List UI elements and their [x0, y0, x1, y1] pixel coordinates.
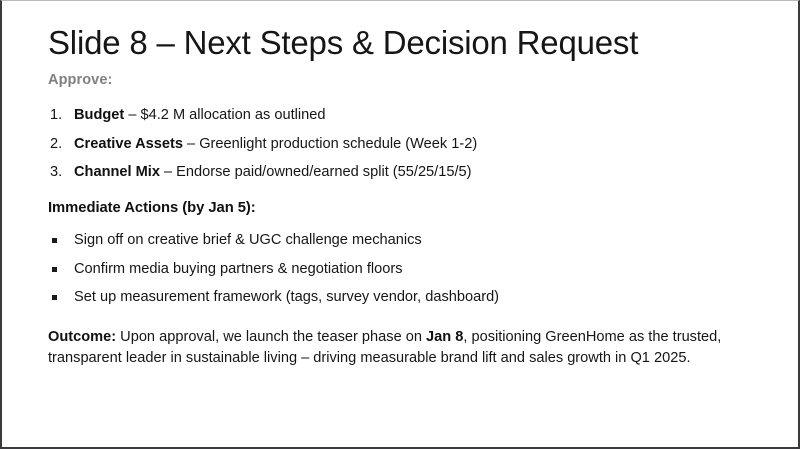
list-item: 1.Budget – $4.2 M allocation as outlined — [48, 106, 762, 125]
list-item: Sign off on creative brief & UGC challen… — [48, 231, 762, 250]
list-item-text: – $4.2 M allocation as outlined — [124, 107, 325, 123]
slide-content: Slide 8 – Next Steps & Decision Request … — [48, 23, 762, 384]
list-item-text: Sign off on creative brief & UGC challen… — [74, 232, 422, 248]
square-bullet-icon — [52, 267, 57, 272]
outcome-text-part1: Upon approval, we launch the teaser phas… — [116, 329, 426, 345]
list-item: 2.Creative Assets – Greenlight productio… — [48, 135, 762, 154]
square-bullet-icon — [52, 238, 57, 243]
list-item-text: – Endorse paid/owned/earned split (55/25… — [160, 164, 472, 180]
outcome-paragraph: Outcome: Upon approval, we launch the te… — [48, 327, 760, 369]
approve-subheading: Approve: — [48, 72, 762, 88]
presentation-slide: Slide 8 – Next Steps & Decision Request … — [0, 0, 800, 449]
list-item-lead: Channel Mix — [74, 164, 160, 180]
page-title: Slide 8 – Next Steps & Decision Request — [48, 23, 762, 63]
square-bullet-icon — [52, 295, 57, 300]
list-marker: 2. — [50, 135, 62, 154]
list-item-lead: Budget — [74, 107, 124, 123]
outcome-label: Outcome: — [48, 329, 116, 345]
immediate-actions-heading: Immediate Actions (by Jan 5): — [48, 200, 762, 216]
list-item-text: Confirm media buying partners & negotiat… — [74, 261, 403, 277]
list-item: 3.Channel Mix – Endorse paid/owned/earne… — [48, 163, 762, 182]
approve-list: 1.Budget – $4.2 M allocation as outlined… — [48, 106, 762, 182]
outcome-date: Jan 8 — [426, 329, 463, 345]
list-item-lead: Creative Assets — [74, 136, 183, 152]
list-item: Confirm media buying partners & negotiat… — [48, 260, 762, 279]
list-marker: 1. — [50, 106, 62, 125]
list-item-text: Set up measurement framework (tags, surv… — [74, 289, 499, 305]
list-item-text: – Greenlight production schedule (Week 1… — [183, 136, 477, 152]
list-marker: 3. — [50, 163, 62, 182]
immediate-actions-list: Sign off on creative brief & UGC challen… — [48, 231, 762, 307]
list-item: Set up measurement framework (tags, surv… — [48, 288, 762, 307]
